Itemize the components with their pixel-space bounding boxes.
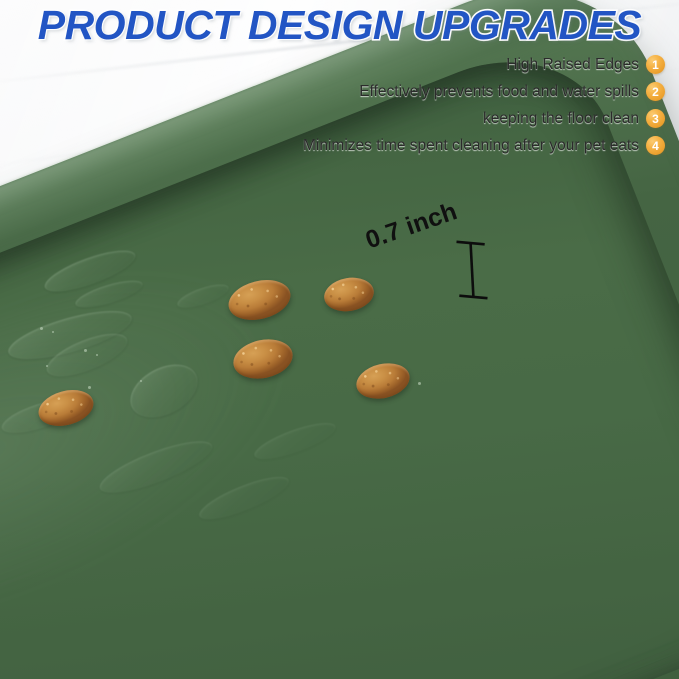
status-badge: 4: [646, 136, 665, 155]
dimension-bracket-icon: [450, 235, 494, 305]
feature-text: High Raised Edges: [506, 56, 639, 74]
status-badge: 3: [646, 109, 665, 128]
feature-text: Minimizes time spent cleaning after your…: [303, 137, 639, 155]
list-item: keeping the floor clean 3: [483, 106, 665, 131]
page-title: PRODUCT DESIGN UPGRADES: [0, 4, 679, 47]
water-droplet: [52, 331, 54, 333]
list-item: Effectively prevents food and water spil…: [359, 79, 665, 104]
water-droplet: [84, 349, 87, 352]
feature-text: keeping the floor clean: [483, 110, 639, 128]
feature-list: High Raised Edges 1 Effectively prevents…: [303, 52, 665, 158]
list-item: Minimizes time spent cleaning after your…: [303, 133, 665, 158]
dimension-bracket: [450, 235, 494, 305]
status-badge: 2: [646, 82, 665, 101]
product-marketing-image: 0.7 inch PRODUCT DESIGN UPGRADES High Ra…: [0, 0, 679, 679]
status-badge: 1: [646, 55, 665, 74]
water-droplet: [418, 382, 421, 385]
feature-text: Effectively prevents food and water spil…: [359, 83, 639, 101]
water-droplet: [40, 327, 43, 330]
water-droplet: [96, 354, 98, 356]
list-item: High Raised Edges 1: [506, 52, 665, 77]
water-droplet: [88, 386, 91, 389]
water-droplet: [140, 380, 142, 382]
water-droplet: [46, 365, 48, 367]
